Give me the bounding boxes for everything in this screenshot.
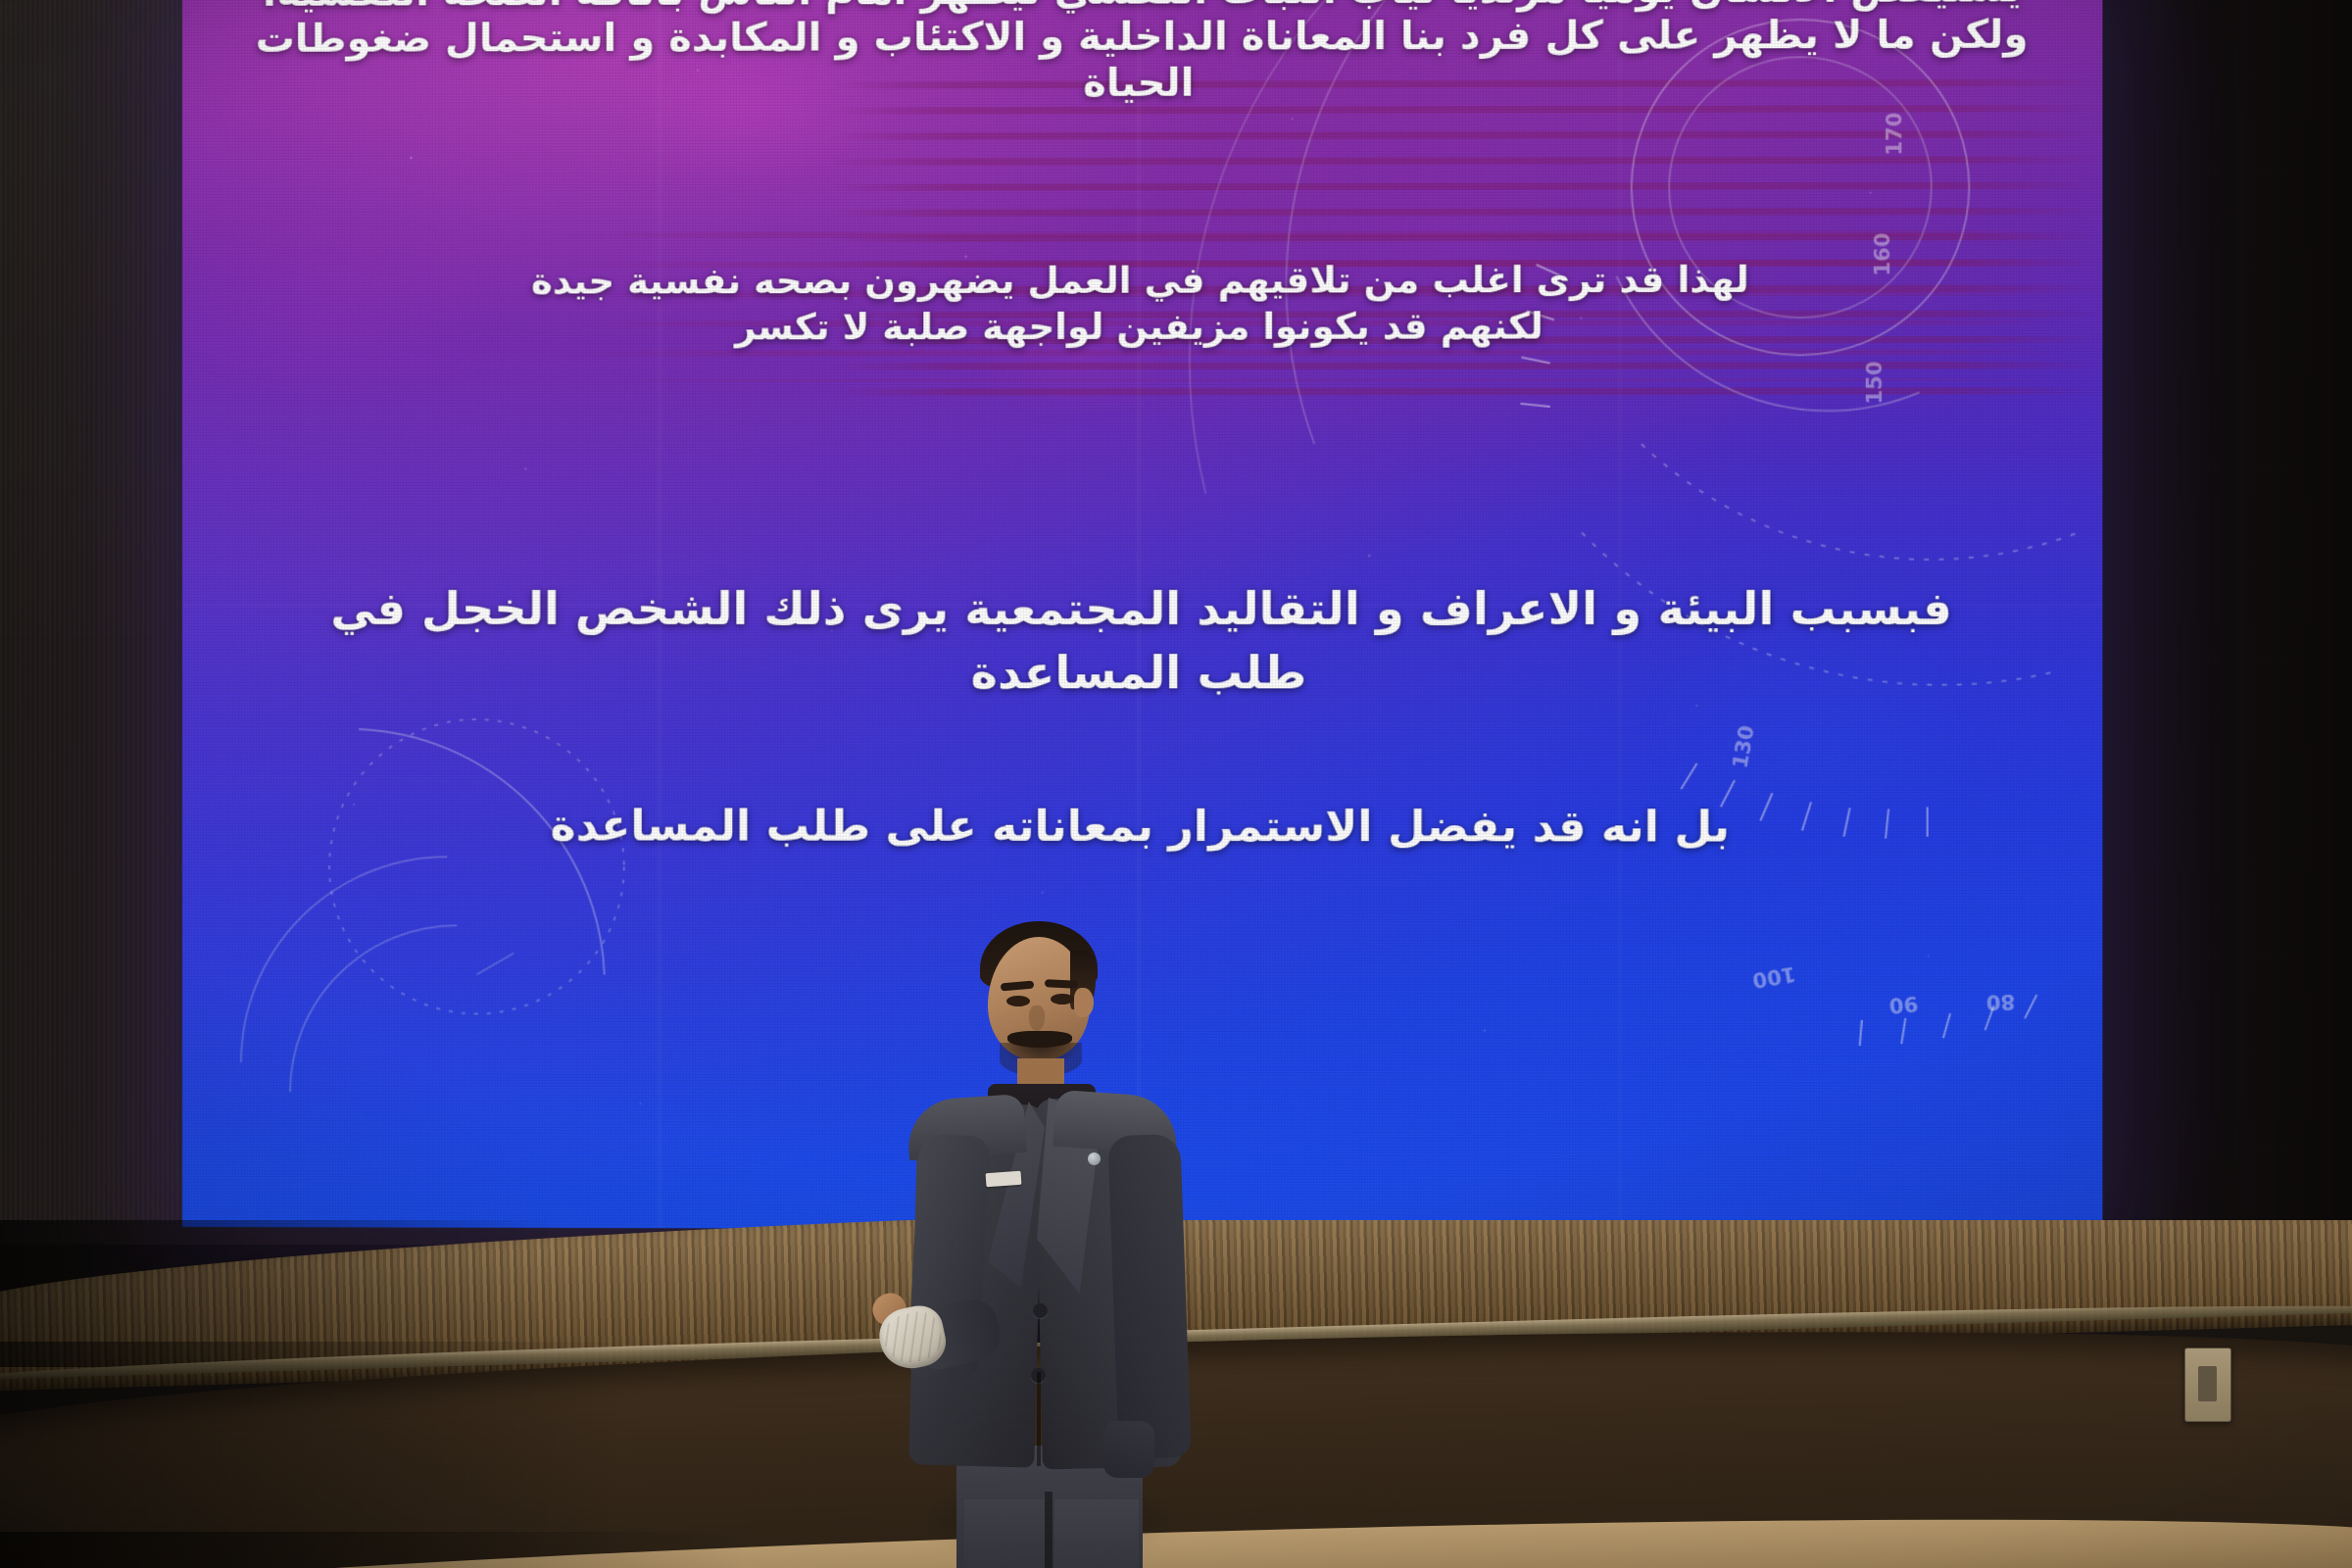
presenter-arm-right [1107,1134,1191,1459]
presenter-eye-left [1006,996,1030,1006]
presentation-scene: 170 160 150 130 100 90 80 يستيقض الانسان… [0,0,2352,1568]
presenter-lapel-pin [1088,1152,1101,1165]
presenter-figure [862,911,1215,1568]
presenter-leg-right [1054,1499,1139,1568]
presenter-nose [1029,1005,1045,1031]
presenter-ear [1074,988,1094,1017]
presenter-jacket-vent [1037,1372,1041,1466]
presenter-hand-in-pocket [1103,1421,1154,1478]
presenter-eye-right [1051,994,1074,1004]
floor-shadow-left [0,1532,745,1568]
power-outlet-icon [2184,1347,2231,1422]
wall-texture-left [0,0,206,1225]
presenter-jacket-button-top [1033,1303,1048,1318]
presenter-leg-seam [1045,1492,1053,1568]
presenter-leg-left [964,1499,1045,1568]
presenter-name-badge [986,1171,1022,1187]
wall-texture-right [2078,0,2352,1225]
presenter-eyebrow-right [1045,979,1078,989]
